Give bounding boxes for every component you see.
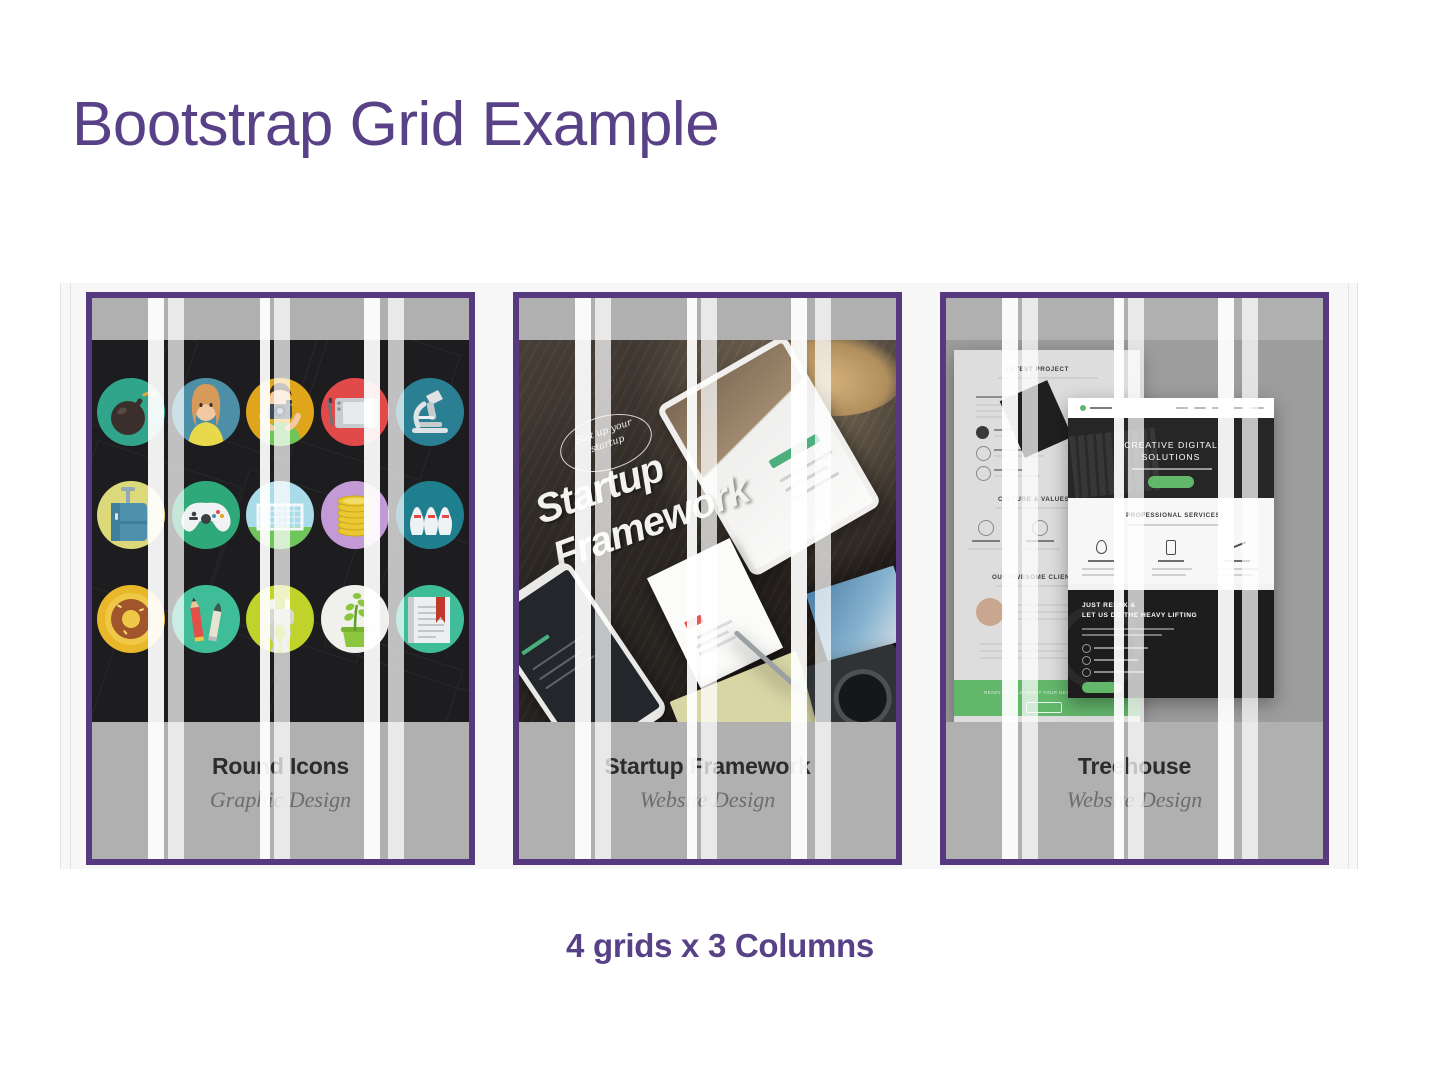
card-caption-round-icons: Round Icons Graphic Design xyxy=(92,722,469,859)
drawing-tablet-icon xyxy=(321,378,389,446)
card-title: Startup Framework xyxy=(519,753,896,780)
bowling-pins-icon xyxy=(396,481,464,549)
suitcase-icon xyxy=(97,481,165,549)
website-mockup-right: CREATIVE DIGITAL SOLUTIONS PROFESSIONAL … xyxy=(1068,398,1274,698)
card-title: Round Icons xyxy=(92,753,469,780)
card-treehouse[interactable]: LATEST PROJECT xyxy=(940,292,1329,865)
card-top-padding xyxy=(519,298,896,340)
relax-line2: LET US DO THE HEAVY LIFTING xyxy=(1082,612,1197,619)
plant-pot-icon xyxy=(321,585,389,653)
photographer-icon xyxy=(246,378,314,446)
card-media-startup-framework: Suit up your startup Startup Framework xyxy=(519,340,896,722)
cards-row: Round Icons Graphic Design xyxy=(60,283,1358,869)
professional-services-heading: PROFESSIONAL SERVICES xyxy=(1126,512,1220,519)
card-top-padding xyxy=(946,298,1323,340)
microscope-icon xyxy=(396,378,464,446)
grid-panel: Round Icons Graphic Design xyxy=(60,283,1358,869)
startup-desk-photo: Suit up your startup Startup Framework xyxy=(519,340,896,722)
card-subtitle: Graphic Design xyxy=(92,787,469,813)
card-top-padding xyxy=(92,298,469,340)
card-subtitle: Website Design xyxy=(946,787,1323,813)
relax-line1: JUST RELAX & xyxy=(1082,602,1136,609)
card-media-round-icons xyxy=(92,340,469,722)
card-inner: LATEST PROJECT xyxy=(946,298,1323,859)
hero-line2: SOLUTIONS xyxy=(1068,452,1274,462)
notebook-icon xyxy=(396,585,464,653)
card-round-icons[interactable]: Round Icons Graphic Design xyxy=(86,292,475,865)
coins-icon xyxy=(321,481,389,549)
gamepad-icon xyxy=(172,481,240,549)
woman-icon xyxy=(172,378,240,446)
plug-icon xyxy=(246,585,314,653)
culture-values-heading: CULTURE & VALUES xyxy=(998,496,1069,503)
footer-caption: 4 grids x 3 Columns xyxy=(0,927,1440,965)
round-icon-grid xyxy=(96,378,465,678)
awesome-clients-heading: OUR AWESOME CLIENTS xyxy=(992,574,1079,581)
donut-icon xyxy=(97,585,165,653)
card-caption-startup-framework: Startup Framework Website Design xyxy=(519,722,896,859)
pencil-brush-icon xyxy=(172,585,240,653)
page-title: Bootstrap Grid Example xyxy=(72,92,719,157)
bomb-icon xyxy=(97,378,165,446)
soccer-goal-icon xyxy=(246,481,314,549)
hero-line1: CREATIVE DIGITAL xyxy=(1068,440,1274,450)
card-startup-framework[interactable]: Suit up your startup Startup Framework xyxy=(513,292,902,865)
card-subtitle: Website Design xyxy=(519,787,896,813)
card-title: Treehouse xyxy=(946,753,1323,780)
card-inner: Round Icons Graphic Design xyxy=(92,298,469,859)
card-media-treehouse: LATEST PROJECT xyxy=(946,340,1323,722)
card-inner: Suit up your startup Startup Framework xyxy=(519,298,896,859)
round-icons-poster xyxy=(92,340,469,722)
latest-project-heading: LATEST PROJECT xyxy=(1006,366,1069,373)
card-caption-treehouse: Treehouse Website Design xyxy=(946,722,1323,859)
